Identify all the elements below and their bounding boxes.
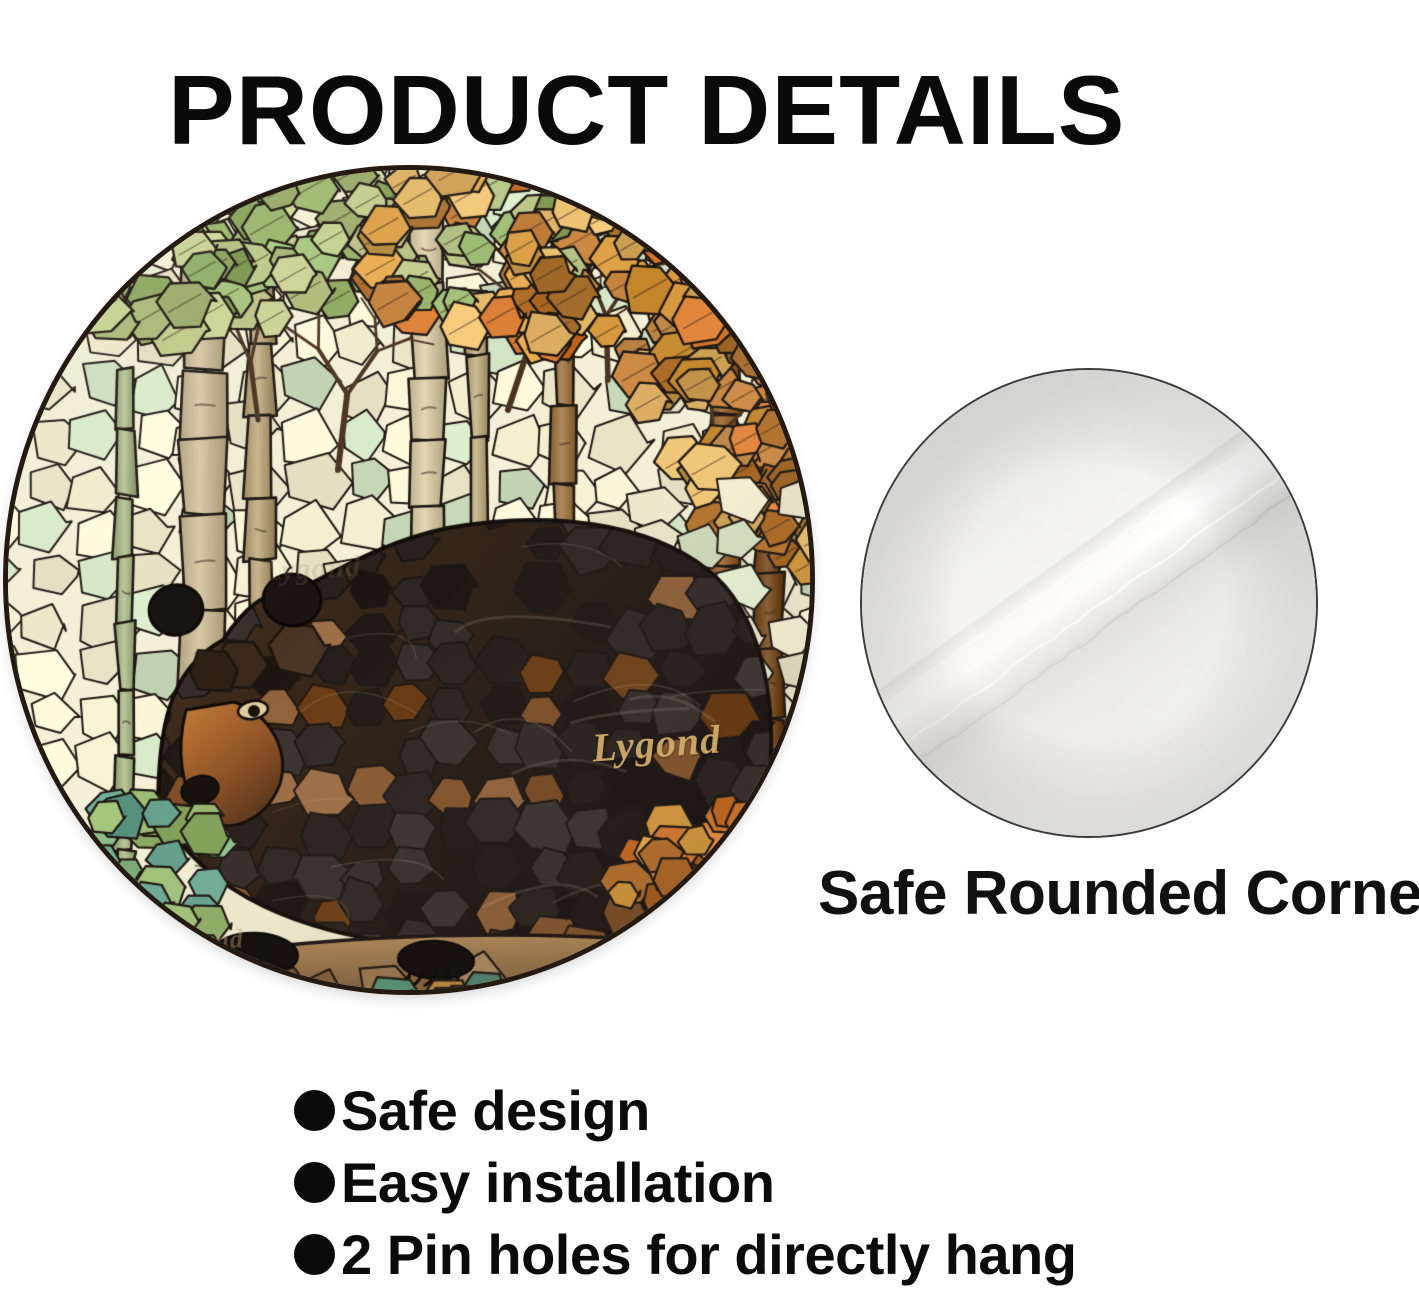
product-details-page: PRODUCT DETAILS Lygond Lygond Lygond Saf… — [0, 0, 1419, 1290]
feature-item-easy-installation: Easy installation — [294, 1146, 1294, 1218]
page-title: PRODUCT DETAILS — [168, 54, 1126, 167]
product-image-stained-glass-bear: Lygond Lygond Lygond — [8, 170, 810, 990]
feature-label: Safe design — [341, 1078, 650, 1143]
feature-label: Easy installation — [341, 1150, 774, 1215]
rounded-corner-caption: Safe Rounded Corner — [818, 858, 1419, 929]
rounded-corner-canvas — [862, 370, 1316, 836]
rounded-corner-closeup-image — [860, 368, 1318, 838]
stained-glass-artwork-canvas — [8, 170, 810, 990]
feature-item-pin-holes: 2 Pin holes for directly hang — [294, 1218, 1294, 1290]
bullet-icon — [294, 1090, 335, 1131]
feature-list: Safe design Easy installation 2 Pin hole… — [294, 1074, 1294, 1290]
feature-item-safe-design: Safe design — [294, 1074, 1294, 1146]
bullet-icon — [294, 1234, 335, 1275]
bullet-icon — [294, 1162, 335, 1203]
feature-label: 2 Pin holes for directly hang — [341, 1222, 1076, 1287]
